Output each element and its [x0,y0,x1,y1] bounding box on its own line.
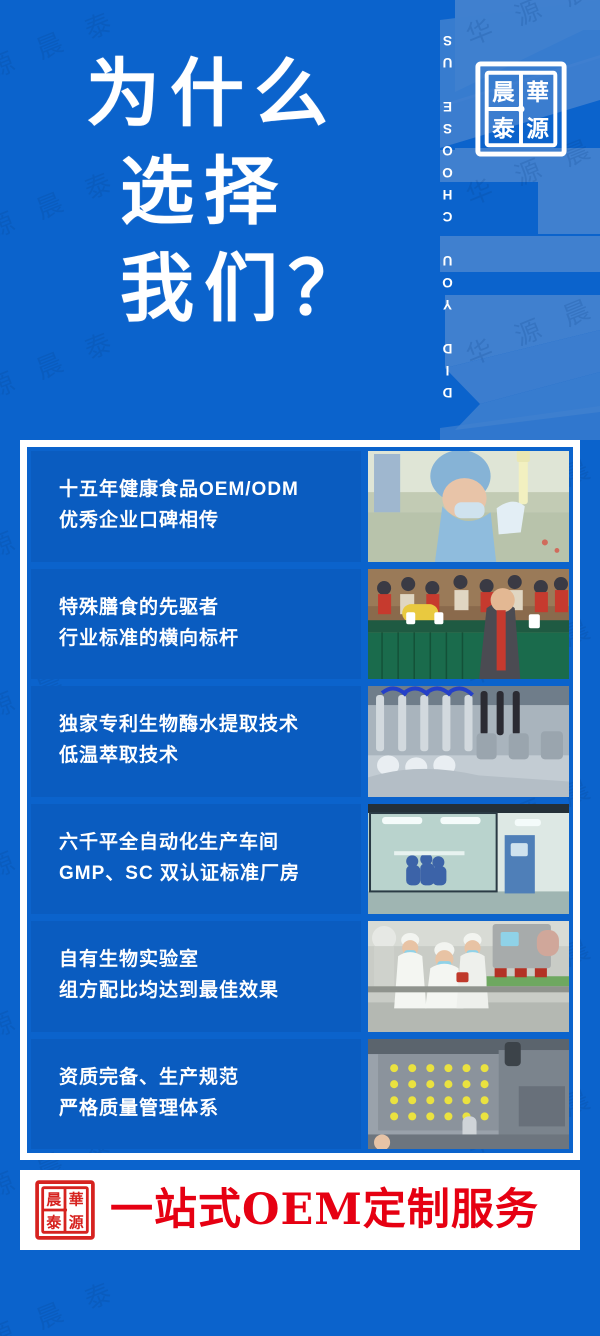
feature-line-2: 低温萃取技术 [59,741,361,772]
feature-text-block: 自有生物实验室 组方配比均达到最佳效果 [31,921,361,1032]
feature-line-2: 组方配比均达到最佳效果 [59,976,361,1007]
feature-line-2: GMP、SC 双认证标准厂房 [59,859,361,890]
list-item[interactable]: 独家专利生物酶水提取技术 低温萃取技术 [31,686,569,797]
brand-seal-white-icon: 華 源 晨 泰 [472,57,570,161]
svg-text:源: 源 [526,116,549,142]
feature-line-2: 优秀企业口碑相传 [59,506,361,537]
feature-line-1: 独家专利生物酶水提取技术 [59,710,361,741]
poster-root: 华 源 晨 泰 华 源 晨 泰 华 源 晨 泰 华 源 晨 泰 华 源 晨 泰 … [0,0,600,1336]
svg-text:晨: 晨 [46,1190,61,1208]
feature-list: 十五年健康食品OEM/ODM 优秀企业口碑相传 [20,440,580,1160]
feature-photo [368,451,569,562]
svg-text:泰: 泰 [491,116,515,142]
svg-text:華: 華 [526,79,549,106]
watermark-text: 华 源 晨 泰 [0,1269,125,1336]
feature-line-1: 六千平全自动化生产车间 [59,828,361,859]
list-item[interactable]: 特殊膳食的先驱者 行业标准的横向标杆 [31,569,569,680]
feature-line-1: 特殊膳食的先驱者 [59,593,361,624]
feature-text-block: 资质完备、生产规范 严格质量管理体系 [31,1039,361,1150]
feature-photo [368,804,569,915]
svg-text:晨: 晨 [492,80,515,106]
poster-header: 为什么 选择 我们？ DID YOU CHOOSE US 華 源 晨 [0,0,600,440]
feature-photo [368,686,569,797]
feature-line-1: 自有生物实验室 [59,945,361,976]
title-line-3: 我们？ [120,241,372,339]
brand-seal-red-icon: 華 源 晨 泰 [34,1179,96,1241]
feature-photo [368,569,569,680]
list-item[interactable]: 资质完备、生产规范 严格质量管理体系 [31,1039,569,1150]
vertical-english-caption: DID YOU CHOOSE US [440,10,455,400]
title-line-2: 选择 [120,144,372,242]
svg-text:華: 華 [69,1190,84,1208]
svg-text:源: 源 [69,1213,84,1231]
footer-slogan: 一站式OEM定制服务 [110,1189,539,1232]
feature-text-block: 特殊膳食的先驱者 行业标准的横向标杆 [31,569,361,680]
feature-line-1: 十五年健康食品OEM/ODM [59,475,361,506]
vertical-english-text: DID YOU CHOOSE US [440,26,455,400]
feature-text-block: 十五年健康食品OEM/ODM 优秀企业口碑相传 [31,451,361,562]
footer-banner: 華 源 晨 泰 一站式OEM定制服务 [20,1170,580,1250]
feature-line-1: 资质完备、生产规范 [59,1063,361,1094]
title-line-1: 为什么 [86,46,372,144]
feature-line-2: 严格质量管理体系 [59,1094,361,1125]
feature-line-2: 行业标准的横向标杆 [59,624,361,655]
list-item[interactable]: 六千平全自动化生产车间 GMP、SC 双认证标准厂房 [31,804,569,915]
feature-text-block: 独家专利生物酶水提取技术 低温萃取技术 [31,686,361,797]
page-title: 为什么 选择 我们？ [86,46,372,339]
list-item[interactable]: 自有生物实验室 组方配比均达到最佳效果 [31,921,569,1032]
svg-text:泰: 泰 [45,1213,61,1231]
feature-photo [368,921,569,1032]
list-item[interactable]: 十五年健康食品OEM/ODM 优秀企业口碑相传 [31,451,569,562]
feature-photo [368,1039,569,1150]
feature-text-block: 六千平全自动化生产车间 GMP、SC 双认证标准厂房 [31,804,361,915]
